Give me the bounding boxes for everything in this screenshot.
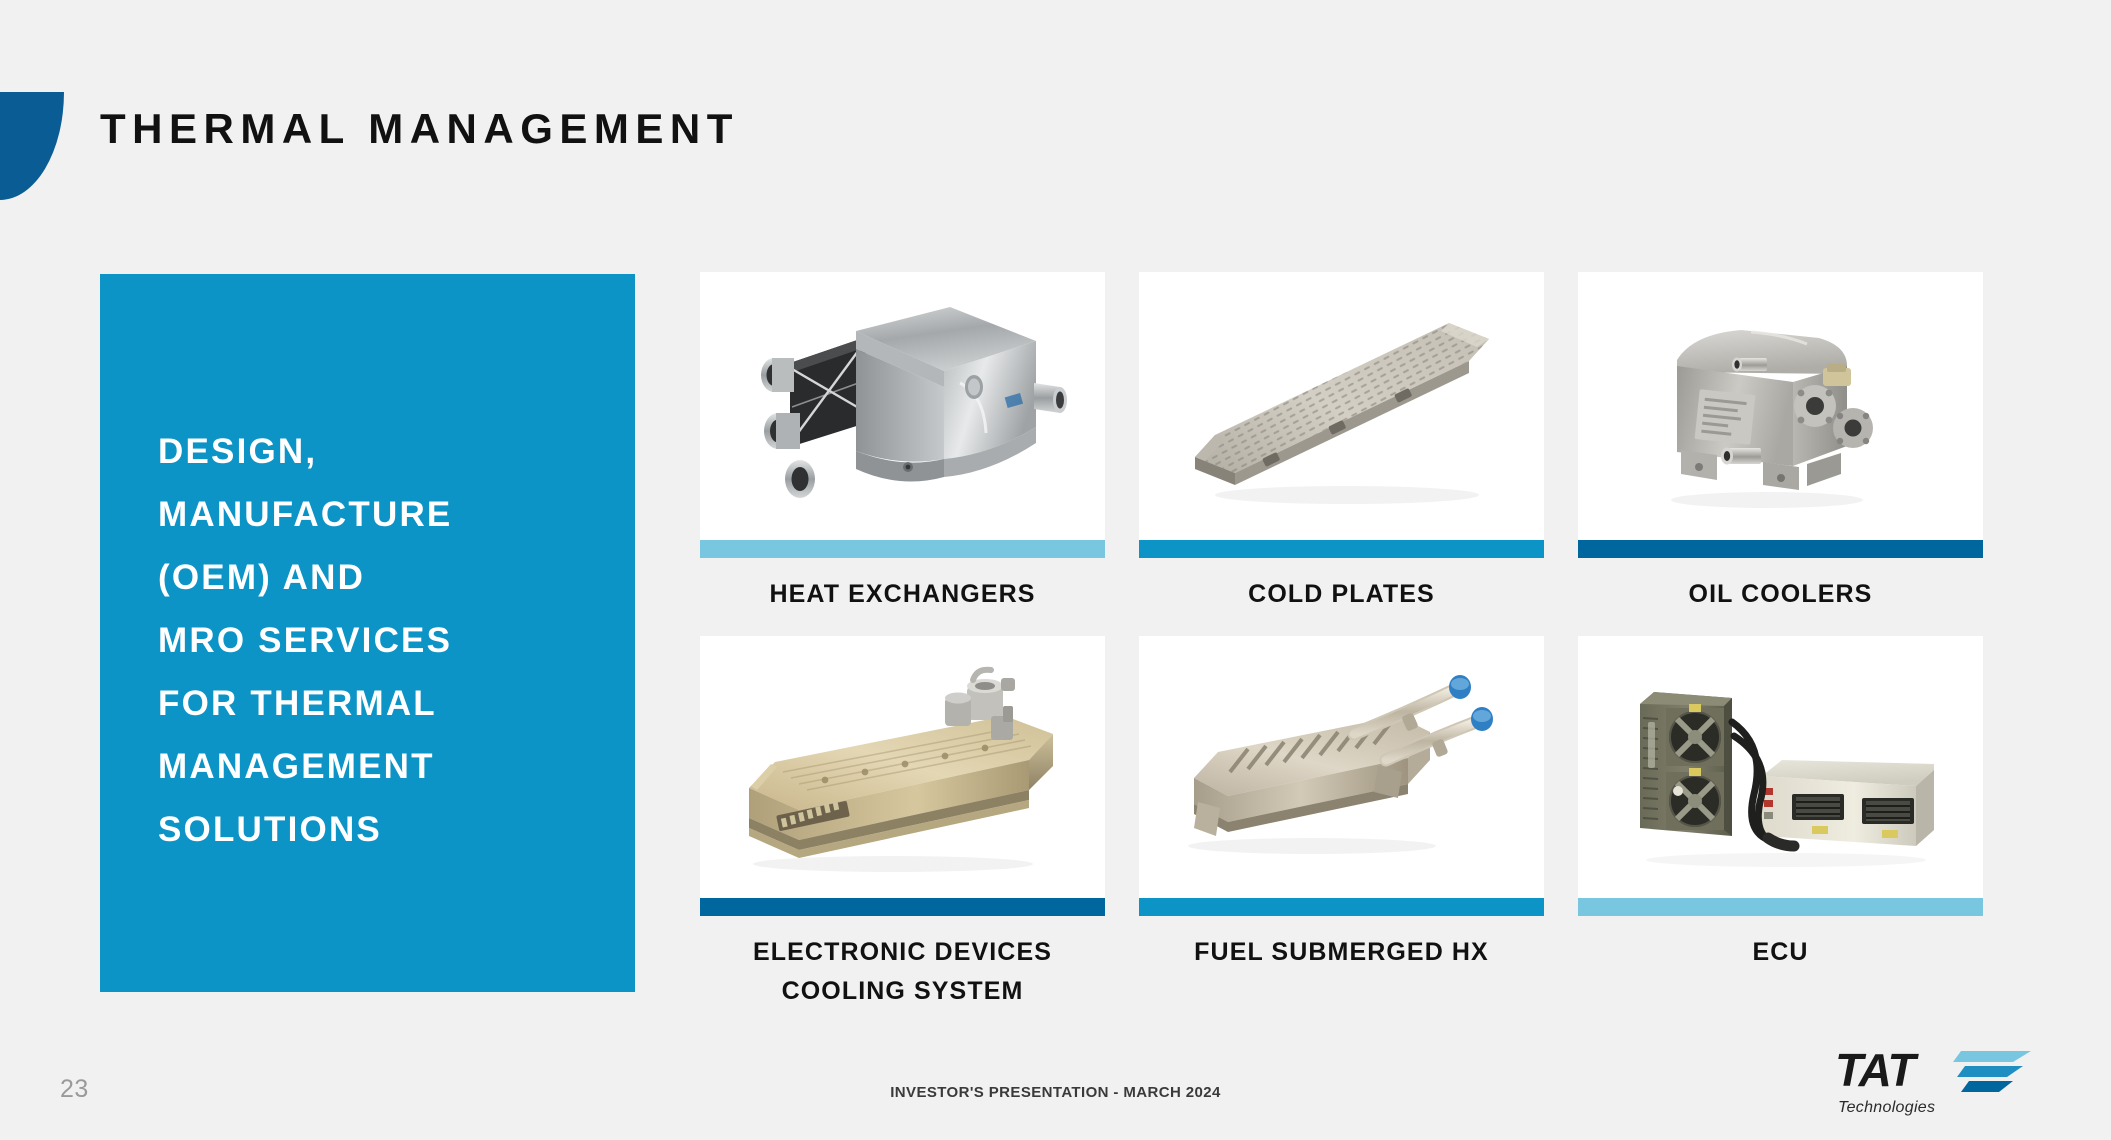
- product-image-oil-cooler: [1578, 272, 1983, 540]
- accent-bar-ecu: [1578, 898, 1983, 916]
- product-grid: HEAT EXCHANGERS: [700, 272, 2000, 1011]
- cold-plate-photo: [1177, 299, 1507, 514]
- ecu-photo: [1616, 660, 1946, 875]
- fuel-submerged-hx-photo: [1172, 660, 1512, 875]
- product-caption-electronic-devices-cooling-system: ELECTRONIC DEVICES COOLING SYSTEM: [700, 933, 1105, 1011]
- product-card-cold-plates[interactable]: COLD PLATES: [1139, 272, 1544, 614]
- electronic-devices-cooling-system-photo: [733, 660, 1073, 875]
- decorative-corner-shape: [0, 92, 64, 200]
- product-caption-cold-plates: COLD PLATES: [1139, 575, 1544, 614]
- statement-panel: DESIGN, MANUFACTURE (OEM) AND MRO SERVIC…: [100, 274, 635, 992]
- product-image-fuel-submerged-hx: [1139, 636, 1544, 898]
- brand-logo: TAT Technologies: [1835, 1047, 2033, 1125]
- heat-exchanger-photo: [738, 291, 1068, 521]
- product-card-oil-coolers[interactable]: OIL COOLERS: [1578, 272, 1983, 614]
- product-image-ecu: [1578, 636, 1983, 898]
- product-caption-fuel-submerged-hx: FUEL SUBMERGED HX: [1139, 933, 1544, 972]
- product-card-fuel-submerged-hx[interactable]: FUEL SUBMERGED HX: [1139, 636, 1544, 1011]
- accent-bar-heat-exchangers: [700, 540, 1105, 558]
- product-caption-heat-exchangers: HEAT EXCHANGERS: [700, 575, 1105, 614]
- brand-swoosh-icon: [1953, 1049, 2033, 1097]
- statement-text: DESIGN, MANUFACTURE (OEM) AND MRO SERVIC…: [158, 420, 578, 861]
- product-caption-oil-coolers: OIL COOLERS: [1578, 575, 1983, 614]
- product-card-heat-exchangers[interactable]: HEAT EXCHANGERS: [700, 272, 1105, 614]
- brand-wordmark: TAT: [1835, 1047, 1915, 1093]
- product-card-ecu[interactable]: ECU: [1578, 636, 1983, 1011]
- product-image-electronic-devices-cooling-system: [700, 636, 1105, 898]
- product-card-electronic-devices-cooling-system[interactable]: ELECTRONIC DEVICES COOLING SYSTEM: [700, 636, 1105, 1011]
- accent-bar-oil-coolers: [1578, 540, 1983, 558]
- accent-bar-fuel-submerged-hx: [1139, 898, 1544, 916]
- footer-note: INVESTOR'S PRESENTATION - MARCH 2024: [0, 1084, 2111, 1101]
- product-image-cold-plate: [1139, 272, 1544, 540]
- oil-cooler-photo: [1631, 294, 1931, 519]
- product-image-heat-exchanger: [700, 272, 1105, 540]
- page-title: THERMAL MANAGEMENT: [100, 108, 739, 150]
- accent-bar-cold-plates: [1139, 540, 1544, 558]
- brand-tagline: Technologies: [1838, 1099, 1935, 1117]
- accent-bar-electronic-devices-cooling-system: [700, 898, 1105, 916]
- product-caption-ecu: ECU: [1578, 933, 1983, 972]
